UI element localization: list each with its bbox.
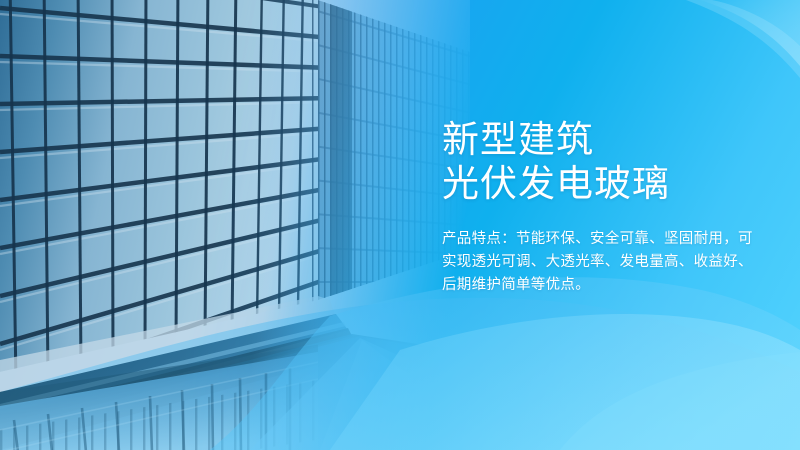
building-photo-illustration bbox=[0, 0, 470, 450]
banner-title-line-1: 新型建筑 bbox=[442, 118, 772, 162]
banner-title-line-2: 光伏发电玻璃 bbox=[442, 162, 772, 206]
promo-banner: 新型建筑 光伏发电玻璃 产品特点：节能环保、安全可靠、坚固耐用，可实现透光可调、… bbox=[0, 0, 800, 450]
building-photo bbox=[0, 0, 470, 450]
banner-subtitle: 产品特点：节能环保、安全可靠、坚固耐用，可实现透光可调、大透光率、发电量高、收益… bbox=[442, 228, 764, 297]
banner-text-block: 新型建筑 光伏发电玻璃 产品特点：节能环保、安全可靠、坚固耐用，可实现透光可调、… bbox=[442, 118, 772, 297]
